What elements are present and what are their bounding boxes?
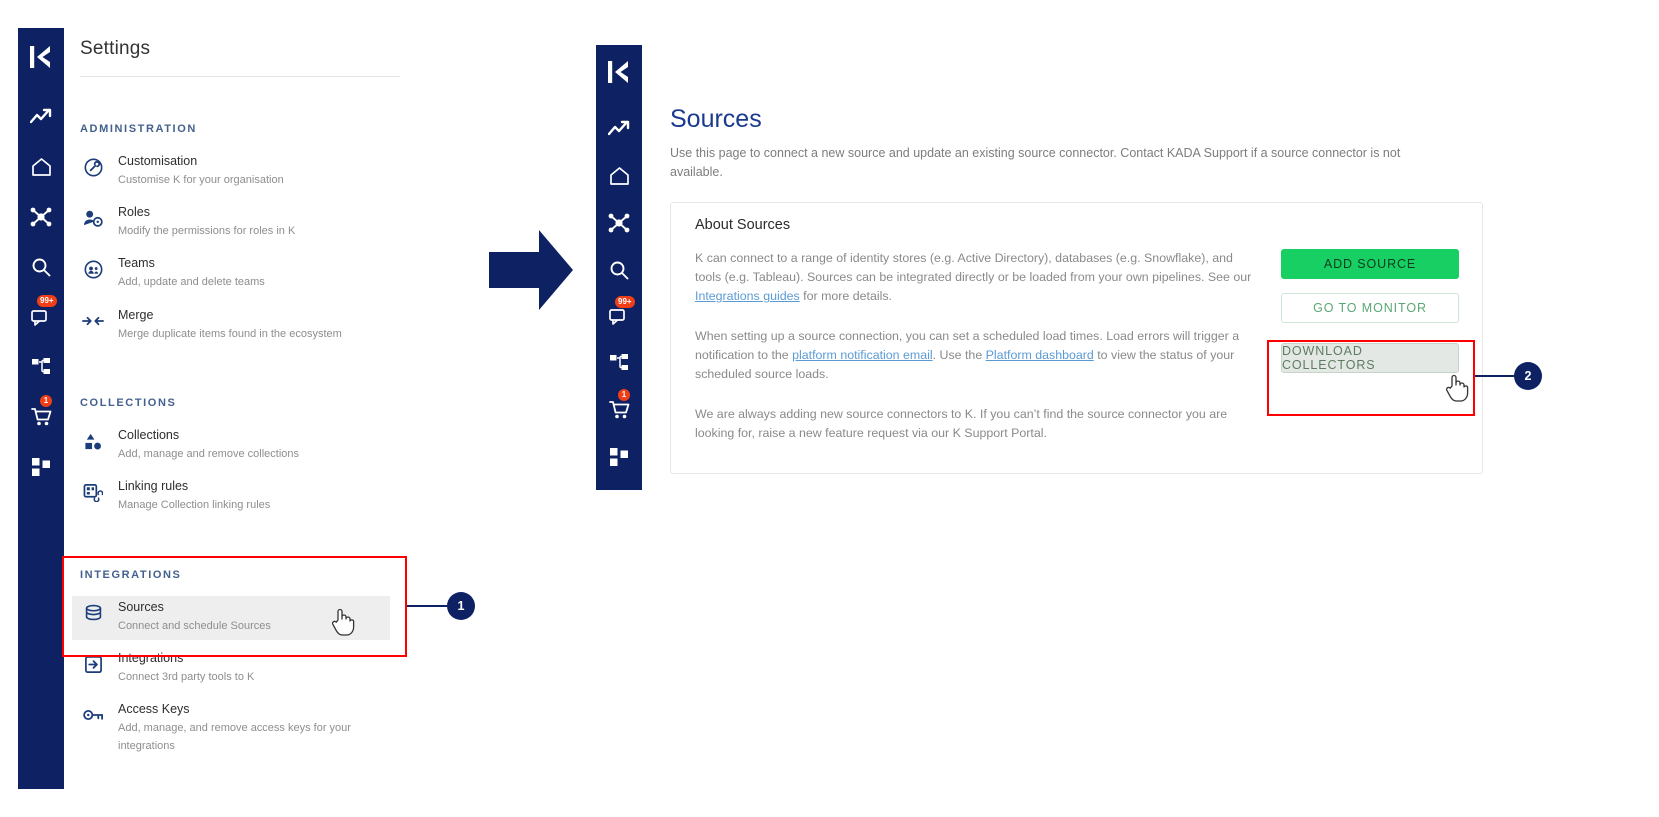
merge-icon	[80, 308, 106, 334]
section-heading-collections: COLLECTIONS	[80, 397, 176, 409]
callout-leader-line-2	[1475, 375, 1515, 377]
collections-icon	[80, 428, 106, 454]
sources-panel: Sources Use this page to connect a new s…	[642, 45, 1652, 490]
sidebar-item-linking-rules[interactable]: Linking rules Manage Collection linking …	[72, 475, 390, 519]
about-paragraph-2: When setting up a source connection, you…	[695, 327, 1260, 384]
search-icon[interactable]	[26, 252, 56, 282]
chat-icon[interactable]: 99+	[26, 302, 56, 332]
apps-grid-icon[interactable]	[604, 443, 634, 470]
flow-arrow-icon	[487, 228, 575, 312]
sidebar-item-subtitle: Connect 3rd party tools to K	[118, 671, 254, 683]
about-sources-card: About Sources K can connect to a range o…	[670, 202, 1483, 474]
sidebar-item-customisation[interactable]: Customisation Customise K for your organ…	[72, 150, 390, 194]
chat-badge: 99+	[37, 295, 57, 307]
sidebar-item-access-keys[interactable]: Access Keys Add, manage, and remove acce…	[72, 698, 390, 742]
sitemap-icon[interactable]	[26, 352, 56, 382]
k-logo-icon[interactable]	[606, 59, 632, 86]
page-subtitle: Use this page to connect a new source an…	[670, 144, 1450, 182]
home-icon[interactable]	[26, 152, 56, 182]
search-icon[interactable]	[604, 256, 634, 283]
chat-badge: 99+	[615, 296, 635, 308]
customisation-icon	[80, 154, 106, 180]
hub-network-icon[interactable]	[26, 202, 56, 232]
sidebar-item-title: Teams	[118, 256, 155, 270]
apps-grid-icon[interactable]	[26, 452, 56, 482]
sidebar-item-title: Collections	[118, 428, 179, 442]
sidebar-item-merge[interactable]: Merge Merge duplicate items found in the…	[72, 304, 390, 348]
sidebar-item-subtitle: Merge duplicate items found in the ecosy…	[118, 328, 342, 340]
sidebar-item-title: Linking rules	[118, 479, 188, 493]
sidebar-item-title: Access Keys	[118, 702, 190, 716]
teams-icon	[80, 256, 106, 282]
sitemap-icon[interactable]	[604, 350, 634, 377]
page-title: Sources	[670, 105, 762, 134]
sidebar-item-collections[interactable]: Collections Add, manage and remove colle…	[72, 424, 390, 468]
go-to-monitor-button[interactable]: GO TO MONITOR	[1281, 293, 1459, 323]
page-title: Settings	[80, 38, 150, 60]
about-paragraph-1: K can connect to a range of identity sto…	[695, 249, 1260, 306]
k-logo-icon[interactable]	[28, 42, 54, 72]
sidebar-item-title: Merge	[118, 308, 153, 322]
sidebar-item-subtitle: Add, update and delete teams	[118, 276, 265, 288]
sidebar-item-teams[interactable]: Teams Add, update and delete teams	[72, 252, 390, 296]
p1-text-after: for more details.	[800, 289, 892, 303]
trending-up-icon[interactable]	[26, 102, 56, 132]
sidebar-item-subtitle: Add, manage, and remove access keys for …	[118, 722, 351, 752]
p2-text-middle: . Use the	[933, 348, 986, 362]
hub-network-icon[interactable]	[604, 209, 634, 236]
primary-sidebar[interactable]: 99+ 1	[18, 28, 64, 789]
callout-badge-1: 1	[447, 592, 475, 620]
linking-rules-icon	[80, 479, 106, 505]
sidebar-item-subtitle: Add, manage and remove collections	[118, 448, 299, 460]
card-title: About Sources	[695, 217, 790, 233]
title-divider	[80, 76, 400, 77]
sidebar-item-title: Roles	[118, 205, 150, 219]
sidebar-item-roles[interactable]: Roles Modify the permissions for roles i…	[72, 201, 390, 245]
home-icon[interactable]	[604, 163, 634, 190]
callout-badge-2: 2	[1514, 362, 1542, 390]
access-keys-icon	[80, 702, 106, 728]
sidebar-item-title: Customisation	[118, 154, 197, 168]
platform-notification-email-link[interactable]: platform notification email	[792, 348, 933, 362]
roles-icon	[80, 205, 106, 231]
trending-up-icon[interactable]	[604, 116, 634, 143]
settings-panel: Settings ADMINISTRATION Customisation Cu…	[64, 28, 409, 789]
p1-text-before: K can connect to a range of identity sto…	[695, 251, 1251, 284]
about-paragraph-3: We are always adding new source connecto…	[695, 405, 1260, 443]
cart-icon[interactable]: 1	[604, 396, 634, 423]
platform-dashboard-link[interactable]: Platform dashboard	[986, 348, 1094, 362]
sidebar-item-subtitle: Manage Collection linking rules	[118, 499, 270, 511]
chat-icon[interactable]: 99+	[604, 303, 634, 330]
integrations-guides-link[interactable]: Integrations guides	[695, 289, 800, 303]
cart-icon[interactable]: 1	[26, 402, 56, 432]
section-heading-administration: ADMINISTRATION	[80, 123, 197, 135]
cart-badge: 1	[40, 395, 52, 407]
sidebar-item-subtitle: Modify the permissions for roles in K	[118, 225, 295, 237]
add-source-button[interactable]: ADD SOURCE	[1281, 249, 1459, 279]
mouse-cursor-pointer-icon	[330, 606, 356, 638]
callout-leader-line-1	[407, 605, 447, 607]
sidebar-item-subtitle: Customise K for your organisation	[118, 174, 284, 186]
secondary-sidebar[interactable]: 99+ 1	[596, 45, 642, 490]
mouse-cursor-pointer-icon	[1444, 372, 1470, 404]
